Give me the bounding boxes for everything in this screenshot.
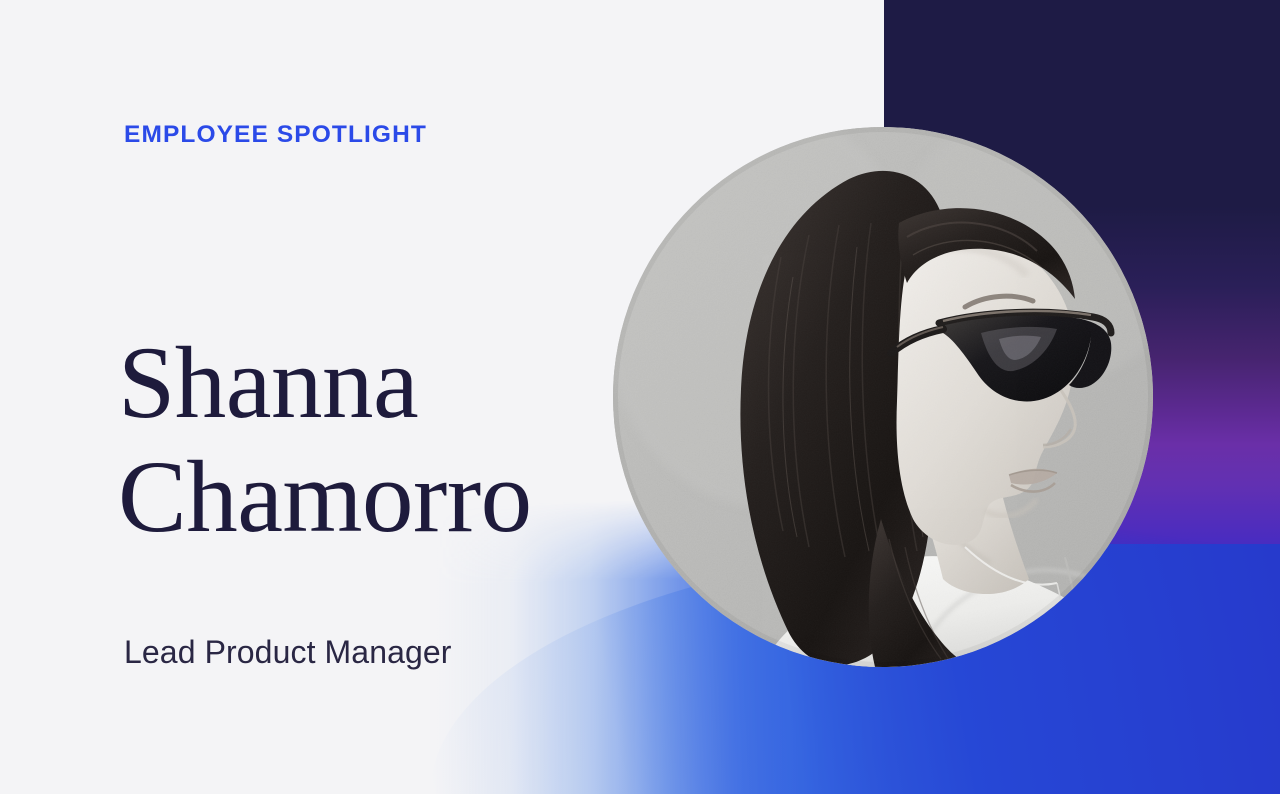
employee-name: Shanna Chamorro	[118, 326, 532, 554]
employee-portrait	[613, 127, 1153, 667]
employee-role: Lead Product Manager	[124, 634, 452, 671]
eyebrow-label: EMPLOYEE SPOTLIGHT	[124, 121, 427, 149]
employee-spotlight-card: EMPLOYEE SPOTLIGHT Shanna Chamorro Lead …	[0, 0, 1280, 794]
